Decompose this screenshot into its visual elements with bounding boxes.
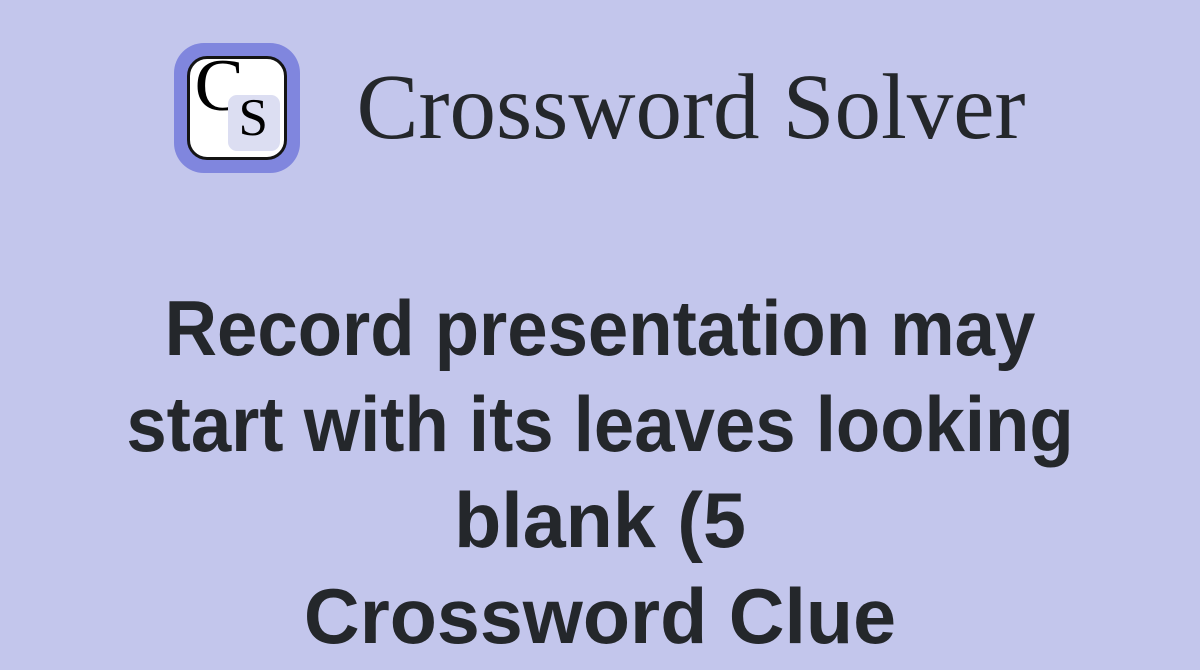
clue-title-line-1: Record presentation may: [79, 280, 1121, 376]
clue-title-line-3: blank (5: [46, 472, 1155, 568]
crossword-solver-logo-icon[interactable]: C S: [174, 43, 300, 173]
site-title[interactable]: Crossword Solver: [356, 61, 1025, 154]
site-brand-header[interactable]: C S Crossword Solver: [0, 30, 1200, 185]
clue-title-line-2: start with its leaves looking: [79, 376, 1121, 472]
clue-title-line-4: Crossword Clue: [46, 568, 1155, 664]
logo-inner-card: C S: [187, 56, 287, 160]
logo-letter-s: S: [238, 92, 267, 145]
page-root: C S Crossword Solver Record presentation…: [0, 0, 1200, 670]
page-title: Record presentation may start with its l…: [0, 280, 1200, 664]
